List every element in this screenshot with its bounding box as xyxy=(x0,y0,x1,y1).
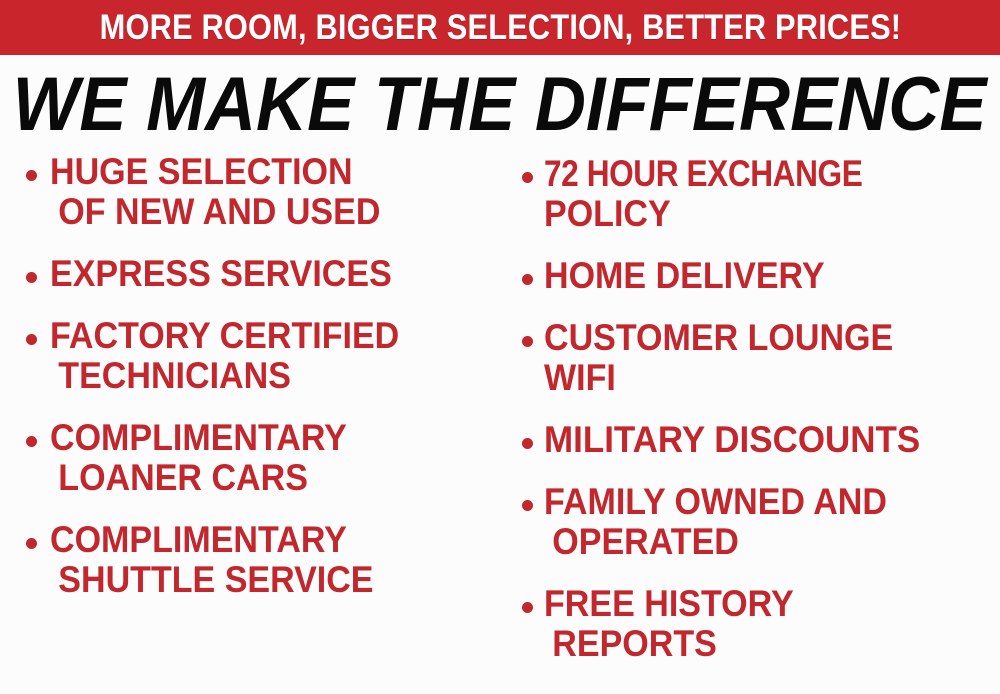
features-column-right: 72 HOUR EXCHANGE POLICY HOME DELIVERY CU… xyxy=(512,154,1000,686)
promo-banner-text: MORE ROOM, BIGGER SELECTION, BETTER PRIC… xyxy=(99,10,901,45)
list-item-text: CUSTOMER LOUNGE WIFI xyxy=(544,318,1000,398)
list-item-text: MILITARY DISCOUNTS xyxy=(544,420,1000,460)
list-item-text: COMPLIMENTARY LOANER CARS xyxy=(50,418,500,498)
list-item-line: CUSTOMER LOUNGE xyxy=(544,318,964,358)
list-item-line: COMPLIMENTARY xyxy=(50,418,464,458)
features-columns: HUGE SELECTION OF NEW AND USED EXPRESS S… xyxy=(0,152,1000,694)
list-item-text: COMPLIMENTARY SHUTTLE SERVICE xyxy=(50,520,500,600)
bullet-dot-icon xyxy=(522,336,533,347)
list-item-text: HOME DELIVERY xyxy=(544,256,1000,296)
list-item: HUGE SELECTION OF NEW AND USED xyxy=(14,152,500,232)
list-item-line: SHUTTLE SERVICE xyxy=(50,560,464,600)
list-item: CUSTOMER LOUNGE WIFI xyxy=(512,318,1000,398)
bullet-dot-icon xyxy=(26,272,37,283)
bullet-dot-icon xyxy=(26,538,37,549)
list-item-line: HUGE SELECTION xyxy=(50,152,464,192)
bullet-dot-icon xyxy=(26,334,37,345)
list-item-line: 72 HOUR EXCHANGE xyxy=(544,154,934,194)
bullet-dot-icon xyxy=(26,436,37,447)
list-item: FACTORY CERTIFIED TECHNICIANS xyxy=(14,316,500,396)
list-item-text: 72 HOUR EXCHANGE POLICY xyxy=(544,154,1000,234)
list-item-text: EXPRESS SERVICES xyxy=(50,254,500,294)
promo-banner: MORE ROOM, BIGGER SELECTION, BETTER PRIC… xyxy=(0,0,1000,55)
list-item-line: REPORTS xyxy=(544,624,964,664)
bullet-dot-icon xyxy=(522,274,533,285)
list-item-line: POLICY xyxy=(544,194,964,234)
list-item-line: FREE HISTORY xyxy=(544,584,964,624)
list-item-line: COMPLIMENTARY xyxy=(50,520,464,560)
list-item-line: MILITARY DISCOUNTS xyxy=(544,420,975,460)
list-item-text: FREE HISTORY REPORTS xyxy=(544,584,1000,664)
list-item: FAMILY OWNED AND OPERATED xyxy=(512,482,1000,562)
bullet-dot-icon xyxy=(522,602,533,613)
bullet-dot-icon xyxy=(522,438,533,449)
list-item-line: HOME DELIVERY xyxy=(544,256,964,296)
list-item-line: EXPRESS SERVICES xyxy=(50,254,464,294)
list-item: FREE HISTORY REPORTS xyxy=(512,584,1000,664)
list-item-line: WIFI xyxy=(544,358,964,398)
list-item-line: OPERATED xyxy=(544,522,964,562)
list-item-line: LOANER CARS xyxy=(50,458,464,498)
page-title: WE MAKE THE DIFFERENCE xyxy=(13,67,987,143)
list-item-line: OF NEW AND USED xyxy=(50,192,464,232)
list-item: COMPLIMENTARY SHUTTLE SERVICE xyxy=(14,520,500,600)
list-item-text: FAMILY OWNED AND OPERATED xyxy=(544,482,1000,562)
list-item: HOME DELIVERY xyxy=(512,256,1000,296)
list-item: 72 HOUR EXCHANGE POLICY xyxy=(512,154,1000,234)
bullet-dot-icon xyxy=(522,500,533,511)
list-item-text: HUGE SELECTION OF NEW AND USED xyxy=(50,152,500,232)
features-column-left: HUGE SELECTION OF NEW AND USED EXPRESS S… xyxy=(14,152,500,622)
list-item-line: FAMILY OWNED AND xyxy=(544,482,964,522)
list-item-line: FACTORY CERTIFIED xyxy=(50,316,464,356)
list-item: COMPLIMENTARY LOANER CARS xyxy=(14,418,500,498)
list-item: MILITARY DISCOUNTS xyxy=(512,420,1000,460)
list-item-line: TECHNICIANS xyxy=(50,356,464,396)
list-item: EXPRESS SERVICES xyxy=(14,254,500,294)
bullet-dot-icon xyxy=(522,172,533,183)
bullet-dot-icon xyxy=(26,170,37,181)
list-item-text: FACTORY CERTIFIED TECHNICIANS xyxy=(50,316,500,396)
headline-container: WE MAKE THE DIFFERENCE xyxy=(0,62,1000,148)
